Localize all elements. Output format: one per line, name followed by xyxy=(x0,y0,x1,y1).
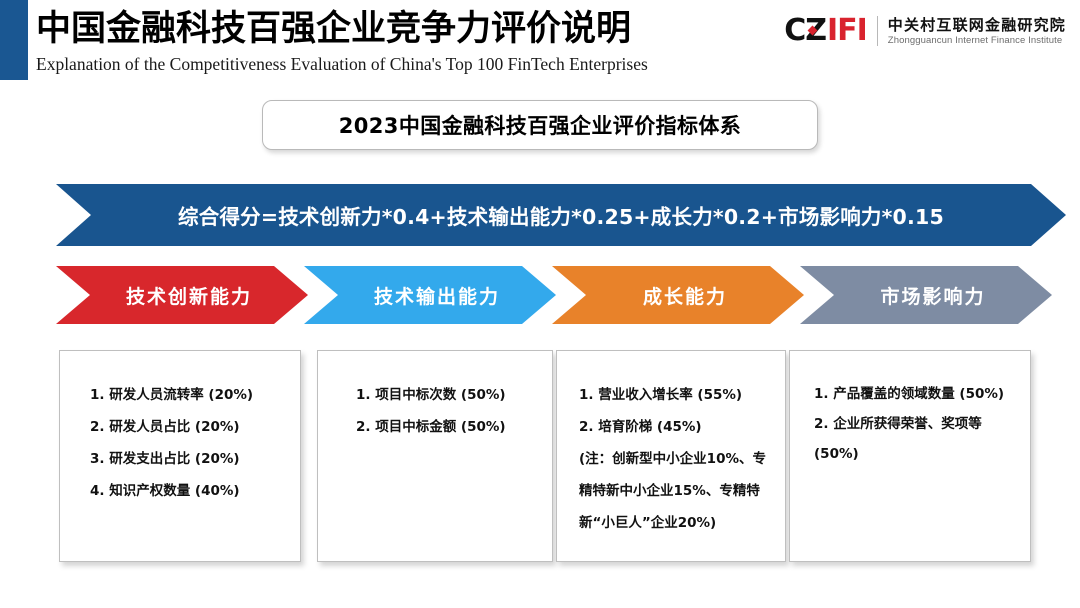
logo-name-en: Zhongguancun Internet Finance Institute xyxy=(888,34,1066,47)
score-formula-text: 综合得分=技术创新力*0.4+技术输出能力*0.25+成长力*0.2+市场影响力… xyxy=(178,200,944,230)
logo-name-cn: 中关村互联网金融研究院 xyxy=(888,16,1066,34)
page-title: 中国金融科技百强企业竞争力评价说明 xyxy=(36,6,648,51)
detail-card-tech-innovation: 1. 研发人员流转率 (20%) 2. 研发人员占比 (20%) 3. 研发支出… xyxy=(59,350,301,562)
detail-card-growth: 1. 营业收入增长率 (55%) 2. 培育阶梯 (45%) (注：创新型中小企… xyxy=(556,350,786,562)
framework-title-text: 2023中国金融科技百强企业评价指标体系 xyxy=(339,110,741,140)
dimension-chevron-market-influence: 市场影响力 xyxy=(800,266,1052,324)
logo-name-block: 中关村互联网金融研究院 Zhongguancun Internet Financ… xyxy=(888,16,1066,47)
dimension-detail-cards: 1. 研发人员流转率 (20%) 2. 研发人员占比 (20%) 3. 研发支出… xyxy=(59,350,1071,562)
detail-item: 2. 项目中标金额 (50%) xyxy=(328,411,542,443)
detail-item: 4. 知识产权数量 (40%) xyxy=(70,475,290,507)
detail-item: 1. 营业收入增长率 (55%) xyxy=(567,379,775,411)
detail-item: 2. 研发人员占比 (20%) xyxy=(70,411,290,443)
header-accent-bar xyxy=(0,0,28,80)
detail-item: 1. 项目中标次数 (50%) xyxy=(328,379,542,411)
framework-title-box: 2023中国金融科技百强企业评价指标体系 xyxy=(262,100,818,150)
score-formula-banner: 综合得分=技术创新力*0.4+技术输出能力*0.25+成长力*0.2+市场影响力… xyxy=(56,184,1066,246)
dimension-chevron-label: 技术输出能力 xyxy=(374,282,500,309)
detail-card-tech-output: 1. 项目中标次数 (50%) 2. 项目中标金额 (50%) xyxy=(317,350,553,562)
detail-item: 2. 企业所获得荣誉、奖项等 (50%) xyxy=(800,409,1020,469)
detail-item: 2. 培育阶梯 (45%) xyxy=(567,411,775,443)
detail-item: 1. 研发人员流转率 (20%) xyxy=(70,379,290,411)
detail-card-market-influence: 1. 产品覆盖的领域数量 (50%) 2. 企业所获得荣誉、奖项等 (50%) xyxy=(789,350,1031,562)
detail-item: 1. 产品覆盖的领域数量 (50%) xyxy=(800,379,1020,409)
dimension-chevron-row: 技术创新能力 技术输出能力 成长能力 市场影响力 xyxy=(56,266,1068,324)
logo-cz-text: CZ xyxy=(784,16,826,46)
logo-wordmark: CZ IFI xyxy=(784,16,867,46)
title-block: 中国金融科技百强企业竞争力评价说明 Explanation of the Com… xyxy=(36,6,648,76)
logo-ifi-text: IFI xyxy=(827,16,867,46)
page-subtitle: Explanation of the Competitiveness Evalu… xyxy=(36,52,648,76)
dimension-chevron-tech-innovation: 技术创新能力 xyxy=(56,266,308,324)
page-header: 中国金融科技百强企业竞争力评价说明 Explanation of the Com… xyxy=(0,0,1080,86)
dimension-chevron-label: 成长能力 xyxy=(643,282,727,309)
institute-logo: CZ IFI 中关村互联网金融研究院 Zhongguancun Internet… xyxy=(784,10,1066,52)
dimension-chevron-tech-output: 技术输出能力 xyxy=(304,266,556,324)
detail-item: 3. 研发支出占比 (20%) xyxy=(70,443,290,475)
detail-item-note: (注：创新型中小企业10%、专精特新中小企业15%、专精特新“小巨人”企业20%… xyxy=(567,443,775,539)
dimension-chevron-label: 技术创新能力 xyxy=(126,282,252,309)
dimension-chevron-growth: 成长能力 xyxy=(552,266,804,324)
dimension-chevron-label: 市场影响力 xyxy=(880,282,985,309)
logo-divider xyxy=(877,16,878,46)
